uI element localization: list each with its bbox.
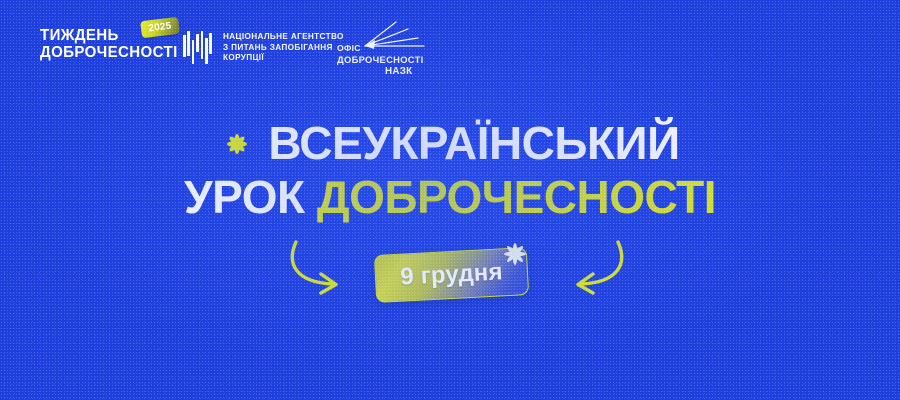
promo-banner: ТИЖДЕНЬ ДОБРОЧЕСНОСТІ 2025 НАЦІОНАЛЬНЕ А… — [0, 0, 900, 400]
logo-nazk-line1: НАЦІОНАЛЬНЕ АГЕНТСТВО — [223, 32, 344, 43]
logo-office-line2: ДОБРОЧЕСНОСТІ — [337, 55, 424, 65]
logo-office-line3: НАЗК — [385, 67, 412, 77]
badge-asterisk-icon — [497, 236, 533, 277]
logo-week-line2: ДОБРОЧЕСНОСТІ — [40, 44, 178, 61]
curved-arrow-right-icon — [288, 238, 362, 305]
headline-text-1: ВСЕУКРАЇНСЬКИЙ — [268, 117, 679, 169]
headline-text-2b: ДОБРОЧЕСНОСТІ — [317, 171, 716, 223]
logo-integrity-week[interactable]: ТИЖДЕНЬ ДОБРОЧЕСНОСТІ 2025 — [40, 27, 182, 61]
headline-line-2: УРОК ДОБРОЧЕСНОСТІ — [0, 170, 900, 224]
headline-text-2a: УРОК — [184, 171, 305, 223]
logo-nazk[interactable]: НАЦІОНАЛЬНЕ АГЕНТСТВО З ПИТАНЬ ЗАПОБІГАН… — [183, 31, 344, 64]
curved-arrow-left-icon — [552, 238, 626, 305]
headline-line-1: ВСЕУКРАЇНСЬКИЙ — [0, 118, 900, 170]
logo-nazk-line2: З ПИТАНЬ ЗАПОБІГАННЯ — [223, 43, 344, 54]
hero-headline: ВСЕУКРАЇНСЬКИЙ УРОК ДОБРОЧЕСНОСТІ — [0, 118, 900, 224]
logo-integrity-office[interactable]: ОФІС ДОБРОЧЕСНОСТІ НАЗК — [336, 20, 446, 80]
vertical-bars-icon — [183, 31, 213, 64]
logo-office-line1: ОФІС — [337, 43, 361, 53]
logo-row: ТИЖДЕНЬ ДОБРОЧЕСНОСТІ 2025 НАЦІОНАЛЬНЕ А… — [0, 0, 900, 96]
logo-nazk-text: НАЦІОНАЛЬНЕ АГЕНТСТВО З ПИТАНЬ ЗАПОБІГАН… — [223, 31, 344, 64]
asterisk-icon — [220, 120, 254, 170]
logo-nazk-line3: КОРУПЦІЇ — [223, 53, 344, 64]
